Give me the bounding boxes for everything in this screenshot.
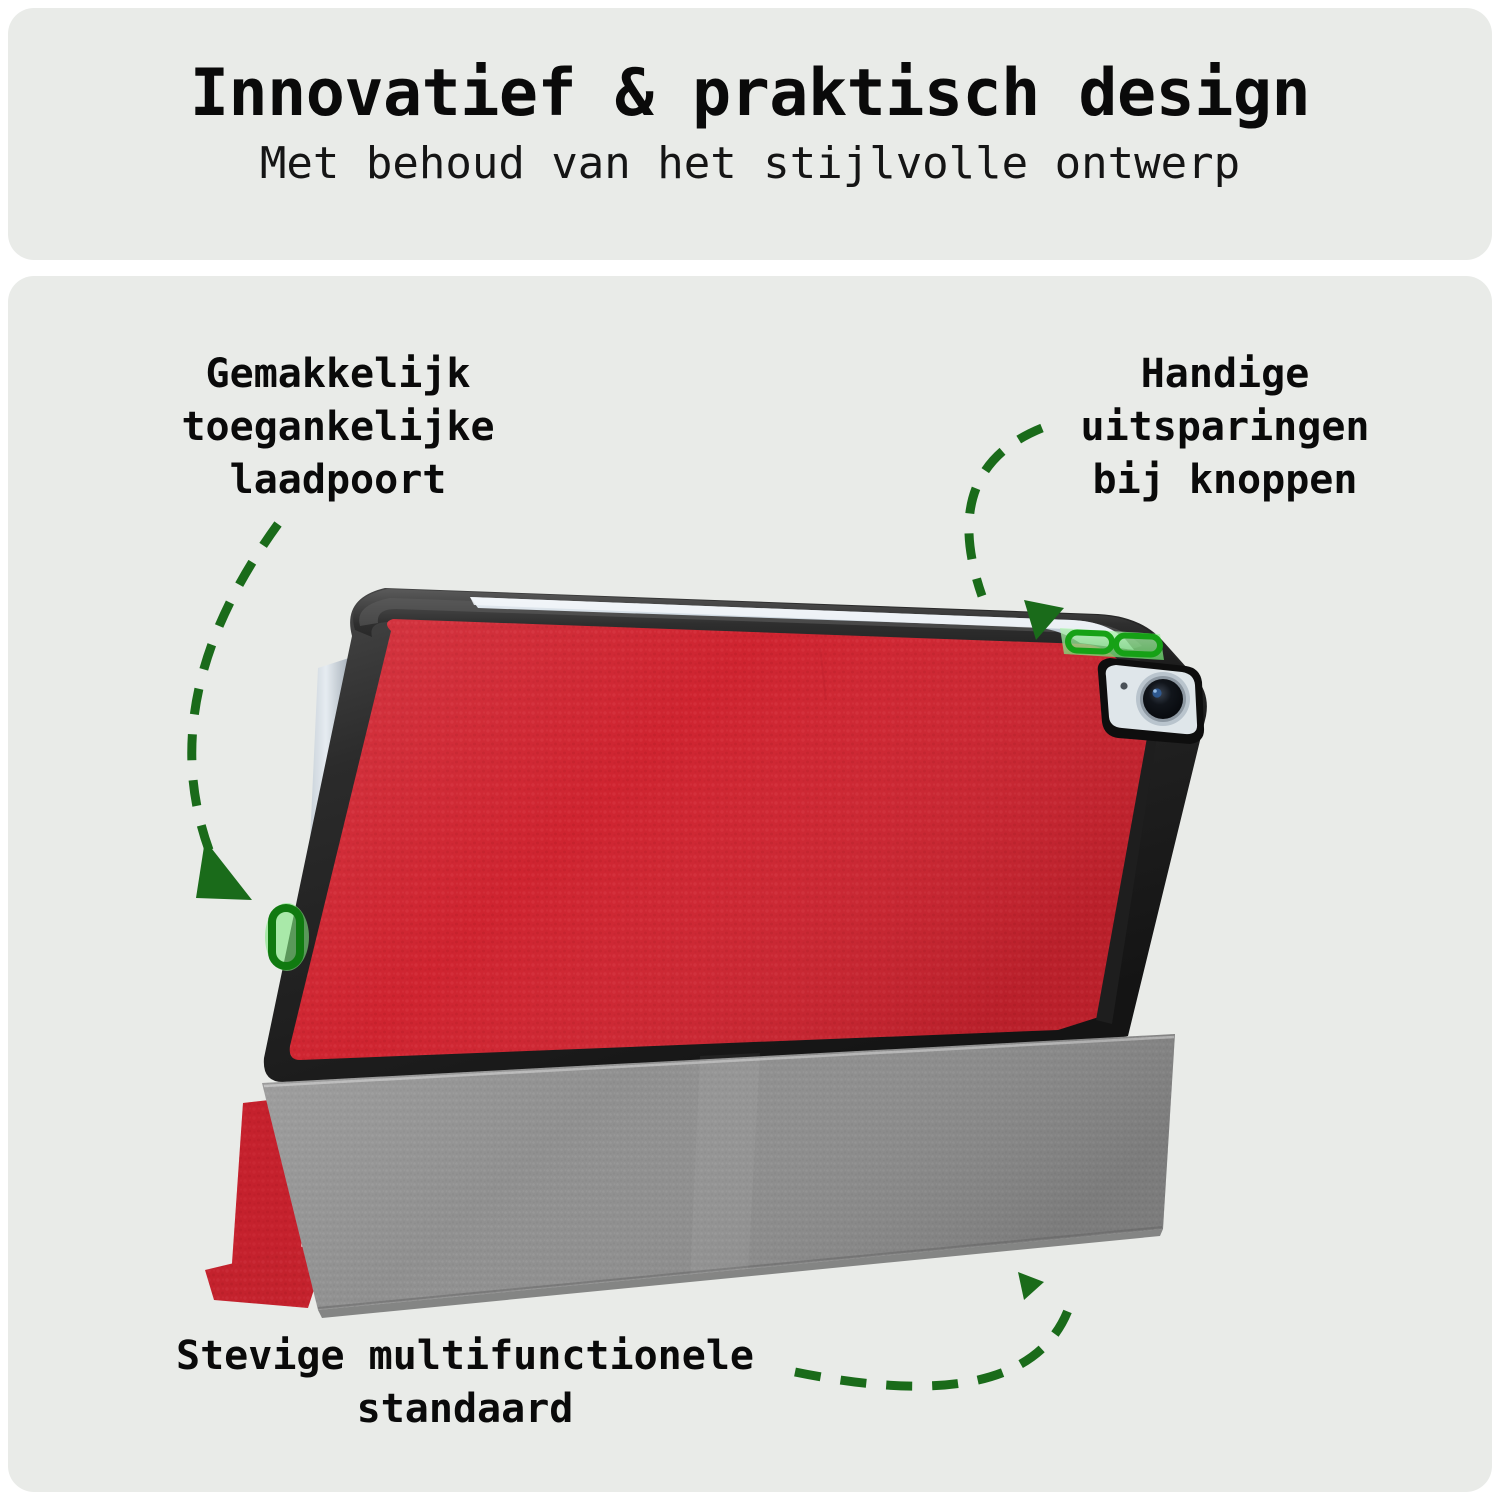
charging-port-highlight [265, 903, 309, 971]
camera-cutout [1098, 658, 1204, 744]
product-image [0, 0, 1500, 1500]
case-red-back-cover [290, 619, 1158, 1060]
